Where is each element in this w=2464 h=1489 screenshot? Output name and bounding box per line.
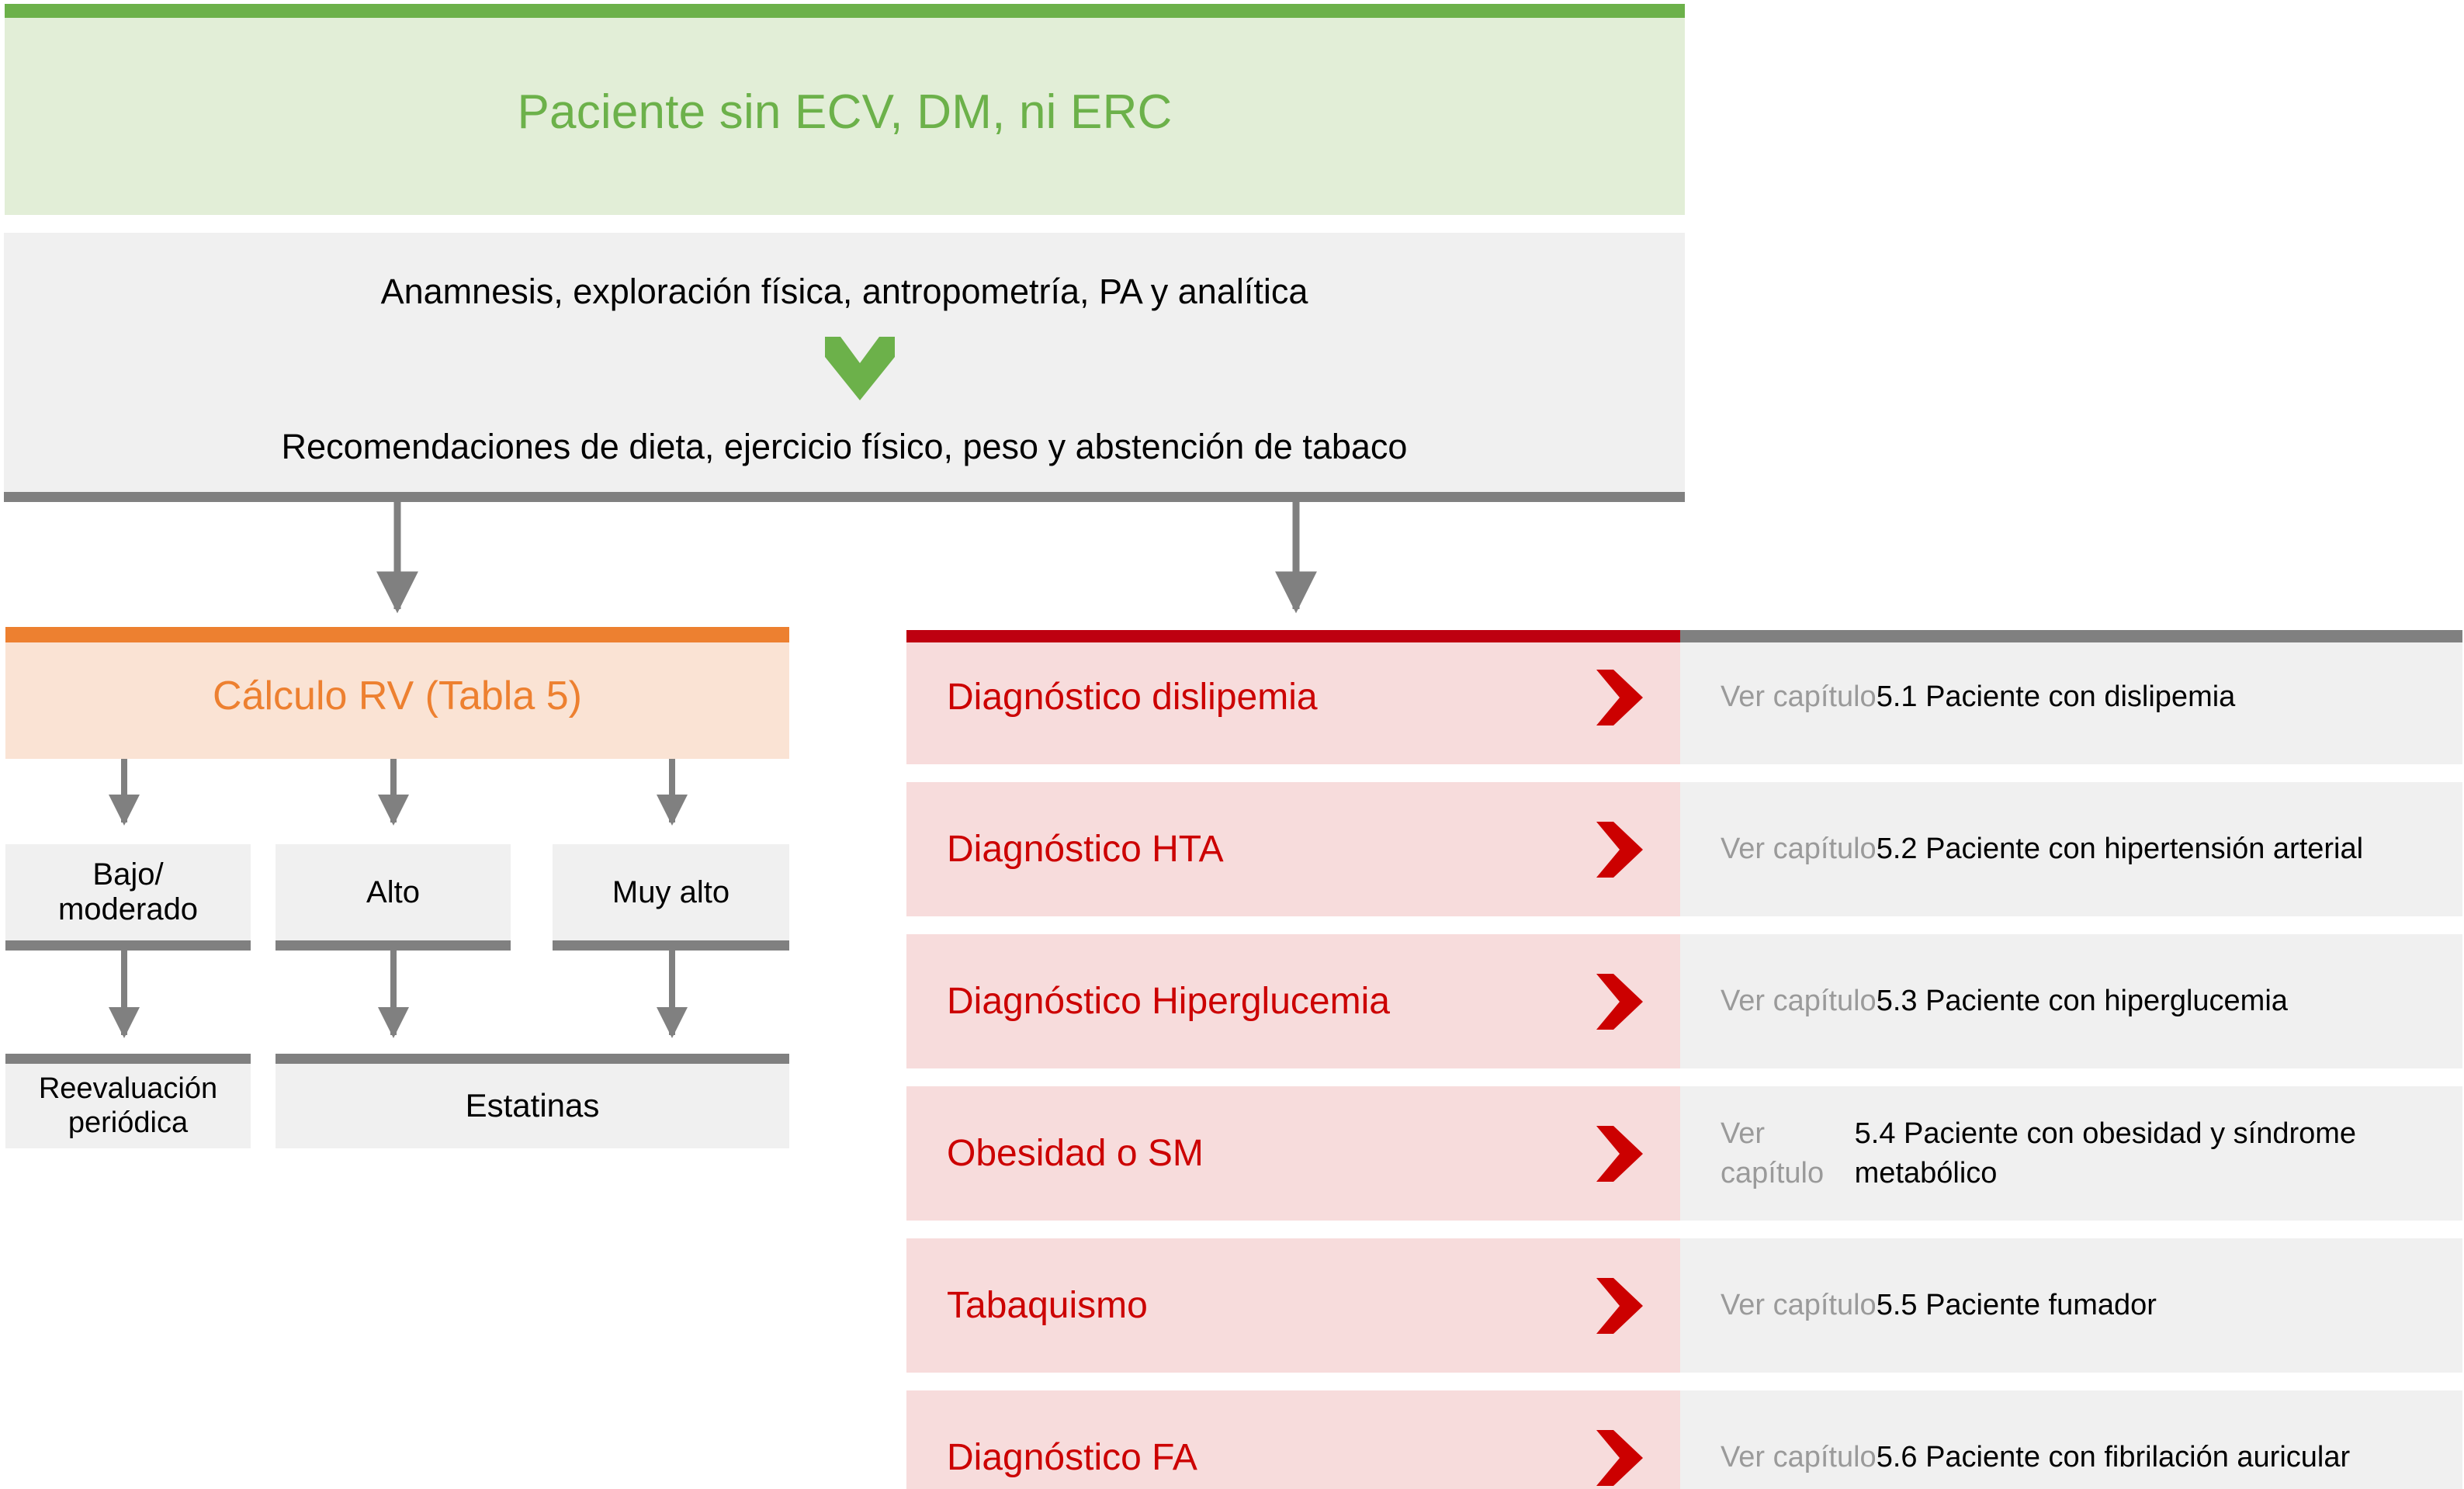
risk-level-box-low-moderate: Bajo/moderado	[5, 844, 251, 951]
assessment-line-1: Anamnesis, exploración física, antropome…	[4, 272, 1685, 312]
diagnosis-reference-text: Ver capítulo 5.3 Paciente con hipergluce…	[1721, 934, 2416, 1068]
diagnosis-reference-text: Ver capítulo 5.1 Paciente con dislipemia	[1721, 630, 2416, 764]
diagnosis-label-cell[interactable]: Diagnóstico Hiperglucemia	[906, 934, 1680, 1068]
diagnosis-label-cell[interactable]: Obesidad o SM	[906, 1086, 1680, 1221]
risk-level-label: Muy alto	[553, 844, 789, 940]
reference-prefix: Ver capítulo	[1721, 677, 1877, 716]
chevron-right-icon	[1596, 670, 1643, 725]
reference-prefix: Ver capítulo	[1721, 1438, 1877, 1477]
reference-prefix: Ver capítulo	[1721, 829, 1877, 868]
reference-prefix: Ver capítulo	[1721, 1114, 1855, 1192]
outcome-top-bar	[5, 1054, 251, 1064]
diagnosis-reference-cell[interactable]: Ver capítulo 5.5 Paciente fumador	[1680, 1238, 2462, 1373]
risk-level-label: Alto	[276, 844, 511, 940]
diagnosis-row-dislipemia[interactable]: Diagnóstico dislipemia Ver capítulo 5.1 …	[906, 630, 2462, 764]
reference-body: 5.6 Paciente con fibrilación auricular	[1877, 1438, 2350, 1477]
diagnosis-title: Tabaquismo	[947, 1238, 1587, 1373]
outcome-label: Reevaluaciónperiódica	[5, 1064, 251, 1148]
risk-level-bottom-bar	[553, 940, 789, 951]
diagnosis-title: Diagnóstico HTA	[947, 782, 1587, 916]
chevron-right-icon	[1596, 1430, 1643, 1486]
diagnosis-reference-cell[interactable]: Ver capítulo 5.3 Paciente con hipergluce…	[1680, 934, 2462, 1068]
diagnosis-reference-text: Ver capítulo 5.2 Paciente con hipertensi…	[1721, 782, 2416, 916]
outcome-top-bar	[276, 1054, 789, 1064]
risk-level-label: Bajo/moderado	[5, 844, 251, 940]
reference-body: 5.1 Paciente con dislipemia	[1877, 677, 2236, 716]
diagnosis-label-cell[interactable]: Diagnóstico HTA	[906, 782, 1680, 916]
assessment-line-2: Recomendaciones de dieta, ejercicio físi…	[4, 427, 1685, 467]
risk-level-bottom-bar	[5, 940, 251, 951]
chevron-down-icon	[825, 337, 895, 400]
diagnosis-label-cell[interactable]: Diagnóstico FA	[906, 1390, 1680, 1489]
outcome-label: Estatinas	[276, 1064, 789, 1148]
reference-body: 5.3 Paciente con hiperglucemia	[1877, 982, 2288, 1020]
diagnosis-list: Diagnóstico dislipemia Ver capítulo 5.1 …	[906, 630, 2462, 1489]
diagnosis-reference-cell[interactable]: Ver capítulo 5.6 Paciente con fibrilació…	[1680, 1390, 2462, 1489]
diagnosis-reference-cell[interactable]: Ver capítulo 5.4 Paciente con obesidad y…	[1680, 1086, 2462, 1221]
diagnosis-reference-cell[interactable]: Ver capítulo 5.1 Paciente con dislipemia	[1680, 630, 2462, 764]
page-title: Paciente sin ECV, DM, ni ERC	[5, 4, 1685, 215]
reference-body: 5.5 Paciente fumador	[1877, 1286, 2157, 1325]
outcome-box-periodic-reassessment: Reevaluaciónperiódica	[5, 1054, 251, 1148]
diagnosis-label-cell[interactable]: Diagnóstico dislipemia	[906, 630, 1680, 764]
risk-calculation-box: Cálculo RV (Tabla 5)	[5, 627, 789, 759]
diagnosis-row-tabaquismo[interactable]: Tabaquismo Ver capítulo 5.5 Paciente fum…	[906, 1238, 2462, 1373]
reference-body: 5.2 Paciente con hipertensión arterial	[1877, 829, 2363, 868]
diagnosis-reference-cell[interactable]: Ver capítulo 5.2 Paciente con hipertensi…	[1680, 782, 2462, 916]
diagnosis-row-hiperglucemia[interactable]: Diagnóstico Hiperglucemia Ver capítulo 5…	[906, 934, 2462, 1068]
diagnosis-reference-text: Ver capítulo 5.4 Paciente con obesidad y…	[1721, 1086, 2416, 1221]
chevron-right-icon	[1596, 974, 1643, 1030]
risk-level-bottom-bar	[276, 940, 511, 951]
reference-prefix: Ver capítulo	[1721, 1286, 1877, 1325]
assessment-divider-rule	[4, 492, 1685, 502]
chevron-right-icon	[1596, 1126, 1643, 1182]
outcome-box-statins: Estatinas	[276, 1054, 789, 1148]
risk-level-box-high: Alto	[276, 844, 511, 951]
diagnosis-title: Diagnóstico FA	[947, 1390, 1587, 1489]
flowchart-canvas: Paciente sin ECV, DM, ni ERC Anamnesis, …	[0, 0, 2464, 1489]
diagnosis-label-cell[interactable]: Tabaquismo	[906, 1238, 1680, 1373]
risk-calculation-title: Cálculo RV (Tabla 5)	[5, 627, 789, 759]
diagnosis-title: Obesidad o SM	[947, 1086, 1587, 1221]
diagnosis-row-hta[interactable]: Diagnóstico HTA Ver capítulo 5.2 Pacient…	[906, 782, 2462, 916]
diagnosis-title: Diagnóstico Hiperglucemia	[947, 934, 1587, 1068]
diagnosis-title: Diagnóstico dislipemia	[947, 630, 1587, 764]
diagnosis-row-obesidad-sm[interactable]: Obesidad o SM Ver capítulo 5.4 Paciente …	[906, 1086, 2462, 1221]
chevron-right-icon	[1596, 1278, 1643, 1334]
chevron-right-icon	[1596, 822, 1643, 878]
diagnosis-reference-text: Ver capítulo 5.6 Paciente con fibrilació…	[1721, 1390, 2416, 1489]
reference-prefix: Ver capítulo	[1721, 982, 1877, 1020]
diagnosis-reference-text: Ver capítulo 5.5 Paciente fumador	[1721, 1238, 2416, 1373]
risk-level-box-very-high: Muy alto	[553, 844, 789, 951]
diagnosis-row-fa[interactable]: Diagnóstico FA Ver capítulo 5.6 Paciente…	[906, 1390, 2462, 1489]
reference-body: 5.4 Paciente con obesidad y síndrome met…	[1855, 1114, 2416, 1192]
patient-header-box: Paciente sin ECV, DM, ni ERC	[5, 4, 1685, 215]
